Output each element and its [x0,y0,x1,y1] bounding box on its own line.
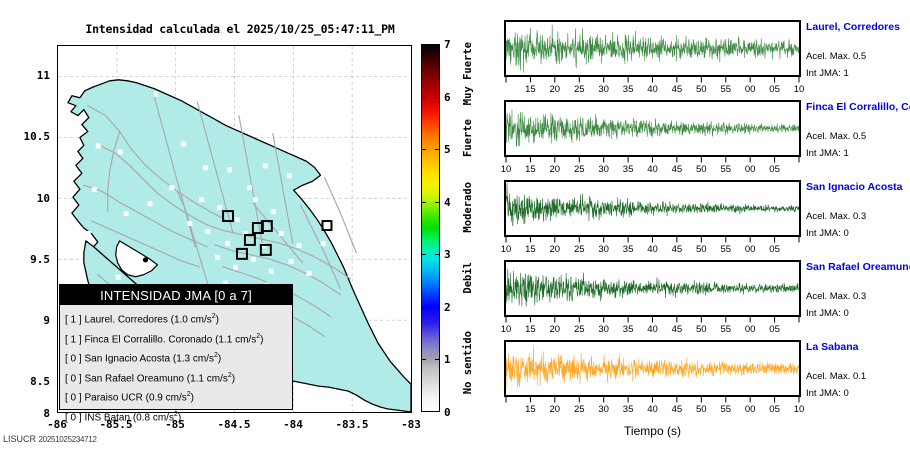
station-jma: Int JMA: 0 [806,228,849,239]
axis-tick-label: 30 [598,84,609,95]
map-ytick: 11 [4,69,50,82]
colorbar-tick-label: 5 [444,143,456,156]
map-xtick: -83 [385,418,437,431]
axis-tick-label: 00 [745,244,756,255]
axis-tick-label: 25 [574,244,585,255]
legend-accel: (0.9 cm/s [146,392,187,403]
legend-intensity: [ 0 ] [65,373,82,384]
legend-intensity: [ 0 ] [65,412,82,423]
axis-tick-label: 10 [794,404,805,415]
axis-tick-label: 05 [769,164,780,175]
axis-tick-label: 25 [574,404,585,415]
legend-header: INTENSIDAD JMA [0 a 7] [60,285,292,305]
colorbar-category-label: Moderado [462,182,474,233]
axis-tick-label: 25 [574,164,585,175]
axis-tick-label: 45 [672,404,683,415]
legend-entry: [ 1 ] Finca El Corralillo. Coronado (1.1… [65,329,292,349]
seismogram-axis: 101520253035404550550005 [504,317,801,335]
colorbar-category-label: Debil [462,262,474,294]
axis-tick-label: 10 [501,164,512,175]
axis-tick-label: 20 [550,84,561,95]
axis-tick-label: 30 [598,324,609,335]
axis-tick-label: 00 [745,404,756,415]
axis-tick-label: 20 [550,404,561,415]
axis-tick-label: 55 [721,164,732,175]
legend-station: San Rafael Oreamuno [84,373,184,384]
station-name: La Sabana [806,341,859,353]
legend-station: Paraiso UCR [84,392,142,403]
axis-tick-label: 55 [721,324,732,335]
axis-tick-label: 50 [696,164,707,175]
axis-tick-label: 15 [525,324,536,335]
page-title: Intensidad calculada el 2025/10/25_05:47… [60,22,420,36]
colorbar-tick [421,359,440,360]
seismogram-x-axis-label: Tiempo (s) [504,424,801,438]
legend-accel: (0.8 cm/s [133,412,174,423]
station-accel: Acel. Max. 0.1 [806,371,866,382]
axis-tick-label: 55 [721,244,732,255]
axis-tick-label: 05 [769,404,780,415]
legend-station: Laurel. Corredores [84,314,167,325]
axis-tick-label: 50 [696,324,707,335]
axis-tick-label: 40 [647,164,658,175]
station-accel: Acel. Max. 0.5 [806,131,866,142]
axis-tick-label: 30 [598,404,609,415]
axis-tick-label: 35 [623,404,634,415]
station-accel: Acel. Max. 0.5 [806,51,866,62]
station-jma: Int JMA: 1 [806,68,849,79]
legend-intensity: [ 1 ] [65,334,82,345]
axis-tick-label: 15 [525,84,536,95]
map-ytick: 9 [4,314,50,327]
station-name: Laurel, Corredores [806,21,900,33]
seismogram-axis: 101520253035404550550005 [504,237,801,255]
intensity-colorbar [421,44,440,412]
station-jma: Int JMA: 0 [806,388,849,399]
axis-tick-label: 50 [696,244,707,255]
map-xtick: -83.5 [326,418,378,431]
map-ytick: 10 [4,192,50,205]
seismogram-trace[interactable] [504,340,801,397]
station-name: Finca El Corralillo, Coro [806,101,910,113]
axis-tick-label: 45 [672,84,683,95]
legend-station: San Ignacio Acosta [84,353,170,364]
axis-tick-label: 00 [745,84,756,95]
colorbar-tick-label: 7 [444,38,456,51]
colorbar-tick [421,97,440,98]
axis-tick-label: 45 [672,244,683,255]
axis-tick-label: 30 [598,244,609,255]
axis-tick-label: 05 [769,324,780,335]
intensity-legend: INTENSIDAD JMA [0 a 7] [ 1 ] Laurel. Cor… [59,284,293,410]
seismogram-axis: 152025303540455055000510 [504,77,801,95]
colorbar-tick [421,149,440,150]
axis-tick-label: 00 [745,324,756,335]
axis-tick-label: 40 [647,404,658,415]
station-accel: Acel. Max. 0.3 [806,291,866,302]
footer-code: 20251025234712 [39,435,97,444]
axis-tick-label: 45 [672,164,683,175]
colorbar-tick [421,202,440,203]
axis-tick-label: 40 [647,324,658,335]
axis-tick-label: 10 [794,84,805,95]
axis-tick-label: 00 [745,164,756,175]
legend-tail: ) [232,373,235,384]
legend-entry: [ 1 ] Laurel. Corredores (1.0 cm/s2) [65,309,292,329]
colorbar-tick-label: 4 [444,196,456,209]
colorbar-tick [421,307,440,308]
axis-tick-label: 15 [525,244,536,255]
axis-tick-label: 05 [769,84,780,95]
legend-entry: [ 0 ] San Ignacio Acosta (1.3 cm/s2) [65,348,292,368]
legend-intensity: [ 1 ] [65,314,82,325]
axis-tick-label: 35 [623,324,634,335]
legend-entry: [ 0 ] San Rafael Oreamuno (1.1 cm/s2) [65,368,292,388]
legend-station: INS Batan [84,412,130,423]
colorbar-tick-label: 3 [444,248,456,261]
axis-tick-label: 05 [769,244,780,255]
legend-station: Finca El Corralillo. Coronado [84,334,212,345]
map-ytick: 9.5 [4,253,50,266]
axis-tick-label: 20 [550,244,561,255]
seismogram-axis: 152025303540455055000510 [504,397,801,415]
seismogram-trace[interactable] [504,20,801,77]
legend-tail: ) [178,412,181,423]
seismogram-trace[interactable] [504,260,801,317]
seismogram-trace[interactable] [504,100,801,157]
axis-tick-label: 35 [623,244,634,255]
legend-tail: ) [216,314,219,325]
legend-tail: ) [191,392,194,403]
seismogram-axis: 101520253035404550550005 [504,157,801,175]
gulf-island [143,257,148,262]
colorbar-category-label: Muy Fuerte [462,42,474,105]
legend-accel: (1.1 cm/s [215,334,256,345]
axis-tick-label: 50 [696,84,707,95]
legend-accel: (1.0 cm/s [171,314,212,325]
legend-tail: ) [218,353,221,364]
legend-entry: [ 0 ] Paraiso UCR (0.9 cm/s2) [65,387,292,407]
legend-entry: [ 0 ] INS Batan (0.8 cm/s2) [65,407,292,427]
axis-tick-label: 45 [672,324,683,335]
axis-tick-label: 35 [623,84,634,95]
colorbar-tick-label: 6 [444,91,456,104]
seismogram-trace[interactable] [504,180,801,237]
axis-tick-label: 40 [647,244,658,255]
map-ytick: 10.5 [4,130,50,143]
station-jma: Int JMA: 1 [806,148,849,159]
colorbar-tick [421,254,440,255]
axis-tick-label: 10 [501,244,512,255]
axis-tick-label: 15 [525,404,536,415]
station-accel: Acel. Max. 0.3 [806,211,866,222]
axis-tick-label: 50 [696,404,707,415]
axis-tick-label: 20 [550,324,561,335]
axis-tick-label: 40 [647,84,658,95]
axis-tick-label: 30 [598,164,609,175]
legend-intensity: [ 0 ] [65,392,82,403]
colorbar-tick-label: 1 [444,353,456,366]
legend-entry-list: [ 1 ] Laurel. Corredores (1.0 cm/s2) [ 1… [60,305,292,426]
station-jma: Int JMA: 0 [806,308,849,319]
colorbar-tick-label: 0 [444,406,456,419]
map-ytick: 8.5 [4,375,50,388]
colorbar-tick-label: 2 [444,301,456,314]
footer-org: LISUCR [3,434,36,444]
axis-tick-label: 35 [623,164,634,175]
legend-intensity: [ 0 ] [65,353,82,364]
axis-tick-label: 15 [525,164,536,175]
axis-tick-label: 55 [721,404,732,415]
colorbar-category-label: No sentido [462,331,474,394]
axis-tick-label: 25 [574,324,585,335]
legend-accel: (1.1 cm/s [187,373,228,384]
axis-tick-label: 25 [574,84,585,95]
axis-tick-label: 55 [721,84,732,95]
station-name: San Ignacio Acosta [806,181,902,193]
axis-tick-label: 10 [501,324,512,335]
legend-tail: ) [260,334,263,345]
colorbar-category-label: Fuerte [462,119,474,157]
axis-tick-label: 20 [550,164,561,175]
legend-accel: (1.3 cm/s [173,353,214,364]
footer-watermark: LISUCR 20251025234712 [3,434,97,444]
station-name: San Rafael Oreamuno [806,261,910,273]
